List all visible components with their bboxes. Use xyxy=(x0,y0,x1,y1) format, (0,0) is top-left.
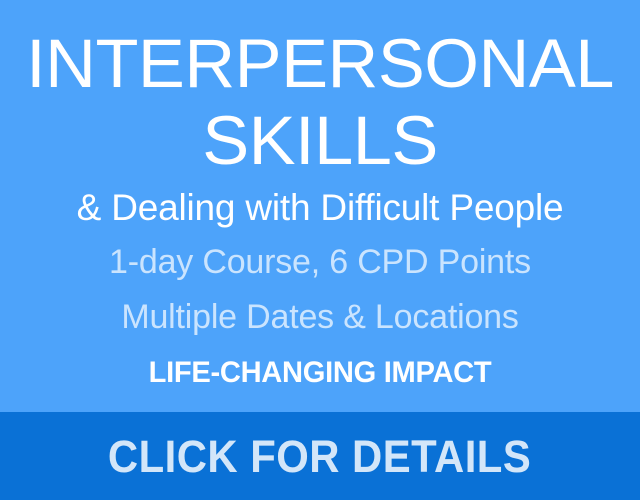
headline-line-2: SKILLS xyxy=(0,106,640,176)
headline-line-1: INTERPERSONAL xyxy=(0,29,640,99)
cta-button-label: CLICK FOR DETAILS xyxy=(108,433,531,481)
impact-statement: LIFE-CHANGING IMPACT xyxy=(10,354,631,392)
banner-content: INTERPERSONAL SKILLS & Dealing with Diff… xyxy=(0,0,640,412)
click-for-details-button[interactable]: CLICK FOR DETAILS xyxy=(0,412,640,500)
detail-dates-locations: Multiple Dates & Locations xyxy=(0,297,640,337)
subheadline: & Dealing with Difficult People xyxy=(0,186,640,230)
detail-course-duration: 1-day Course, 6 CPD Points xyxy=(0,242,640,282)
course-advertisement-banner: INTERPERSONAL SKILLS & Dealing with Diff… xyxy=(0,0,640,500)
